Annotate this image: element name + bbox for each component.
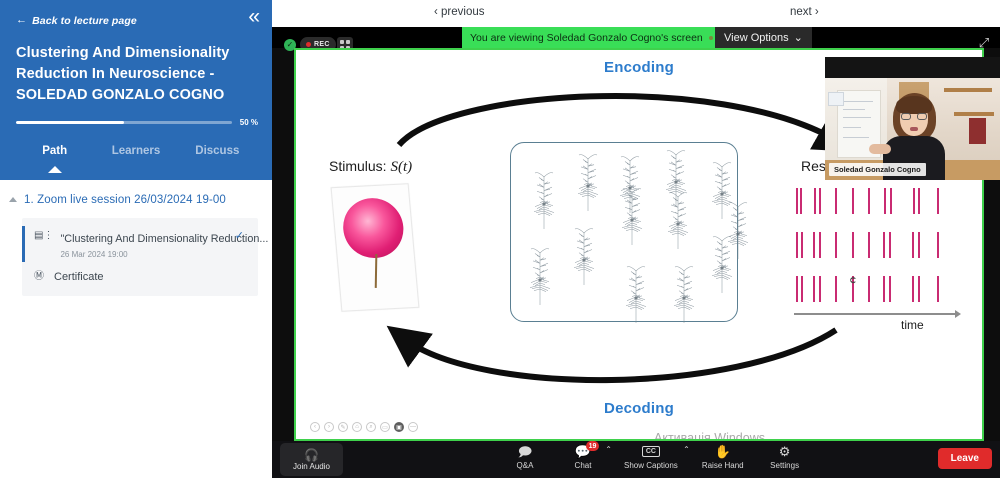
presenter-mouth xyxy=(910,127,918,131)
view-options-button[interactable]: View Options ⌄ xyxy=(715,27,812,48)
neuron-population-box xyxy=(510,142,738,322)
recording-label: REC xyxy=(314,41,330,48)
toolbar-chat-button[interactable]: 💬Chat19⌃ xyxy=(566,444,600,470)
ppt-control-1[interactable]: › xyxy=(324,422,334,432)
list-item-lesson[interactable]: ▤⋮ "Clustering And Dimensionality Reduct… xyxy=(22,226,250,264)
ppt-control-3[interactable]: ⌂ xyxy=(352,422,362,432)
back-link-label: Back to lecture page xyxy=(32,15,137,27)
spike-tick xyxy=(889,232,891,258)
join-audio-button[interactable]: 🎧 Join Audio xyxy=(280,443,343,476)
page-title: Clustering And Dimensionality Reduction … xyxy=(16,43,256,106)
toolbar-chat-badge: 19 xyxy=(586,441,599,451)
neuron-illustration xyxy=(525,247,555,309)
grid-cell xyxy=(340,40,344,44)
spike-tick xyxy=(801,276,803,302)
wall-picture xyxy=(828,92,844,106)
headset-icon: 🎧 xyxy=(304,449,319,461)
lesson-card: ▤⋮ "Clustering And Dimensionality Reduct… xyxy=(22,218,258,296)
toolbar-settings-button[interactable]: ⚙Settings xyxy=(768,444,802,470)
presenter-video-thumbnail[interactable]: Soledad Gonzalo Cogno xyxy=(825,57,1000,180)
windows-activation-title: Активація Windows xyxy=(654,431,974,439)
toolbar-qa-button[interactable]: 🗩Q&A xyxy=(508,444,542,470)
spike-tick xyxy=(796,276,798,302)
progress-bar-fill xyxy=(16,121,124,125)
hand-icon: ✋ xyxy=(715,444,731,459)
spike-tick xyxy=(800,188,802,214)
spike-tick xyxy=(912,232,914,258)
sidebar-content: 1. Zoom live session 26/03/2024 19-00 ▤⋮… xyxy=(0,180,272,478)
spike-tick xyxy=(937,232,939,258)
progress-row: 50 % xyxy=(16,118,258,127)
spike-tick xyxy=(835,188,837,214)
toolbar-chat-label: Chat xyxy=(575,461,592,470)
spike-tick xyxy=(868,188,870,214)
chevron-up-icon xyxy=(9,197,17,202)
ppt-control-6[interactable]: ▣ xyxy=(394,422,404,432)
presenter-glasses xyxy=(901,113,927,120)
neuron-illustration xyxy=(707,235,737,297)
toolbar-qa-label: Q&A xyxy=(517,461,534,470)
grid-cell xyxy=(346,40,350,44)
spike-tick xyxy=(918,276,920,302)
spike-tick xyxy=(819,276,821,302)
spike-tick xyxy=(835,232,837,258)
spike-tick xyxy=(819,232,821,258)
record-dot-icon xyxy=(709,36,713,40)
flower-icon xyxy=(341,197,406,260)
section-header-zoom-live-session[interactable]: 1. Zoom live session 26/03/2024 19-00 xyxy=(0,194,272,206)
lesson-date: 26 Mar 2024 19:00 xyxy=(60,250,223,259)
toolbar-chat-caret-icon[interactable]: ⌃ xyxy=(605,445,612,454)
spike-tick xyxy=(868,232,870,258)
spike-tick xyxy=(796,188,798,214)
spike-tick xyxy=(918,188,920,214)
neuron-illustration xyxy=(663,191,693,253)
toolbar-show-captions-label: Show Captions xyxy=(624,461,678,470)
presenter-name-label: Soledad Gonzalo Cogno xyxy=(829,163,926,176)
stimulus-label-text: Stimulus: xyxy=(329,158,387,174)
certificate-icon: Ⓜ xyxy=(34,270,47,284)
toolbar-show-captions-button[interactable]: CCShow Captions⌃ xyxy=(624,444,678,470)
progress-percent-label: 50 % xyxy=(240,118,258,127)
presenter-fringe xyxy=(896,96,932,114)
mouse-cursor-icon: ➲ xyxy=(849,275,857,286)
collapse-sidebar-icon[interactable]: « xyxy=(248,6,260,27)
toolbar-items: 🗩Q&A💬Chat19⌃CCShow Captions⌃✋Raise Hand⚙… xyxy=(508,444,802,470)
spike-tick xyxy=(835,276,837,302)
zoom-stage: ✓ REC You are viewing Soledad Gonzalo Co… xyxy=(272,27,1000,478)
toolbar-settings-label: Settings xyxy=(770,461,799,470)
windows-activation-watermark: Активація Windows Перейдіть до розділу "… xyxy=(654,431,974,439)
gear-icon: ⚙ xyxy=(779,444,791,459)
spike-tick xyxy=(868,276,870,302)
cc-icon: CC xyxy=(642,444,660,459)
spike-tick xyxy=(884,188,886,214)
spike-tick xyxy=(912,276,914,302)
spike-tick xyxy=(813,276,815,302)
tab-learners[interactable]: Learners xyxy=(95,142,176,157)
neuron-illustration xyxy=(669,265,699,327)
decoding-arrow xyxy=(406,330,836,380)
spike-tick xyxy=(937,188,939,214)
stimulus-label-math: S(t) xyxy=(390,159,412,175)
next-link[interactable]: next › xyxy=(790,6,819,18)
leave-button[interactable]: Leave xyxy=(938,448,992,469)
chat-bubbles-icon: 🗩 xyxy=(518,444,532,459)
section-title: 1. Zoom live session 26/03/2024 19-00 xyxy=(24,194,226,206)
spike-tick xyxy=(852,188,854,214)
neuron-illustration xyxy=(621,265,651,327)
room-shelf xyxy=(944,88,992,92)
tab-path[interactable]: Path xyxy=(14,142,95,157)
spike-tick xyxy=(889,276,891,302)
record-dot-icon xyxy=(306,42,311,47)
toolbar-raise-hand-label: Raise Hand xyxy=(702,461,744,470)
toolbar-show-captions-caret-icon[interactable]: ⌃ xyxy=(683,445,690,454)
lesson-navbar: ‹ previous next › xyxy=(272,0,1000,27)
neuron-illustration xyxy=(615,155,645,217)
view-options-label: View Options xyxy=(724,32,789,44)
spike-tick xyxy=(890,188,892,214)
encoding-arrow xyxy=(399,96,836,145)
spike-tick xyxy=(796,232,798,258)
list-item-certificate[interactable]: Ⓜ Certificate xyxy=(22,264,250,286)
slide-title-decoding: Decoding xyxy=(296,400,982,417)
check-icon: ✓ xyxy=(235,229,244,242)
lesson-text: "Clustering And Dimensionality Reduction… xyxy=(60,229,223,259)
previous-link[interactable]: ‹ previous xyxy=(434,6,485,18)
ppt-control-0[interactable]: ‹ xyxy=(310,422,320,432)
spike-raster-plot xyxy=(794,188,954,308)
spike-tick xyxy=(801,232,803,258)
spike-tick xyxy=(937,276,939,302)
spike-tick xyxy=(913,188,915,214)
stimulus-flower-image xyxy=(331,183,420,312)
spike-tick xyxy=(814,188,816,214)
ppt-control-7[interactable]: ― xyxy=(408,422,418,432)
video-icon: ▤⋮ xyxy=(34,229,53,243)
zoom-web-client: ‹ previous next › ✓ REC You are viewing … xyxy=(272,0,1000,478)
viewing-screen-banner: You are viewing Soledad Gonzalo Cogno's … xyxy=(462,27,739,48)
presentation-controls[interactable]: ‹›✎⌂⌕▭▣― xyxy=(310,422,418,432)
join-audio-label: Join Audio xyxy=(293,462,330,471)
time-axis-label: time xyxy=(901,318,924,332)
toolbar-raise-hand-button[interactable]: ✋Raise Hand xyxy=(702,444,744,470)
neuron-illustration xyxy=(569,227,599,289)
chevron-down-icon: ⌄ xyxy=(794,31,803,44)
zoom-toolbar: 🎧 Join Audio 🗩Q&A💬Chat19⌃CCShow Captions… xyxy=(272,441,1000,478)
viewing-screen-text: You are viewing Soledad Gonzalo Cogno's … xyxy=(470,32,703,44)
spike-tick xyxy=(918,232,920,258)
ppt-control-5[interactable]: ▭ xyxy=(380,422,390,432)
wall-poster xyxy=(969,118,986,144)
spike-tick xyxy=(813,232,815,258)
neuron-illustration xyxy=(573,153,603,215)
tab-discuss[interactable]: Discuss xyxy=(177,142,258,157)
spike-tick xyxy=(883,232,885,258)
room-shelf xyxy=(954,112,994,116)
stimulus-label: Stimulus: S(t) xyxy=(329,158,412,176)
progress-bar xyxy=(16,121,232,125)
app-root: ← Back to lecture page « Clustering And … xyxy=(0,0,1000,478)
flower-stem xyxy=(375,254,378,288)
screen-share-bar: ✓ REC You are viewing Soledad Gonzalo Co… xyxy=(272,27,1000,48)
spike-tick xyxy=(852,232,854,258)
back-arrow-icon: ← xyxy=(16,15,27,26)
course-sidebar: ← Back to lecture page « Clustering And … xyxy=(0,0,272,478)
presenter-arm xyxy=(869,144,891,154)
sidebar-tabs: Path Learners Discuss xyxy=(0,142,272,180)
sidebar-header: ← Back to lecture page « Clustering And … xyxy=(0,0,272,180)
spike-tick xyxy=(819,188,821,214)
neuron-illustration xyxy=(529,171,559,233)
certificate-label: Certificate xyxy=(54,271,104,283)
raster-time-axis xyxy=(794,313,956,315)
ppt-control-2[interactable]: ✎ xyxy=(338,422,348,432)
back-to-lecture-page-link[interactable]: ← Back to lecture page xyxy=(16,15,137,27)
spike-tick xyxy=(883,276,885,302)
cc-badge: CC xyxy=(642,446,660,457)
ppt-control-4[interactable]: ⌕ xyxy=(366,422,376,432)
